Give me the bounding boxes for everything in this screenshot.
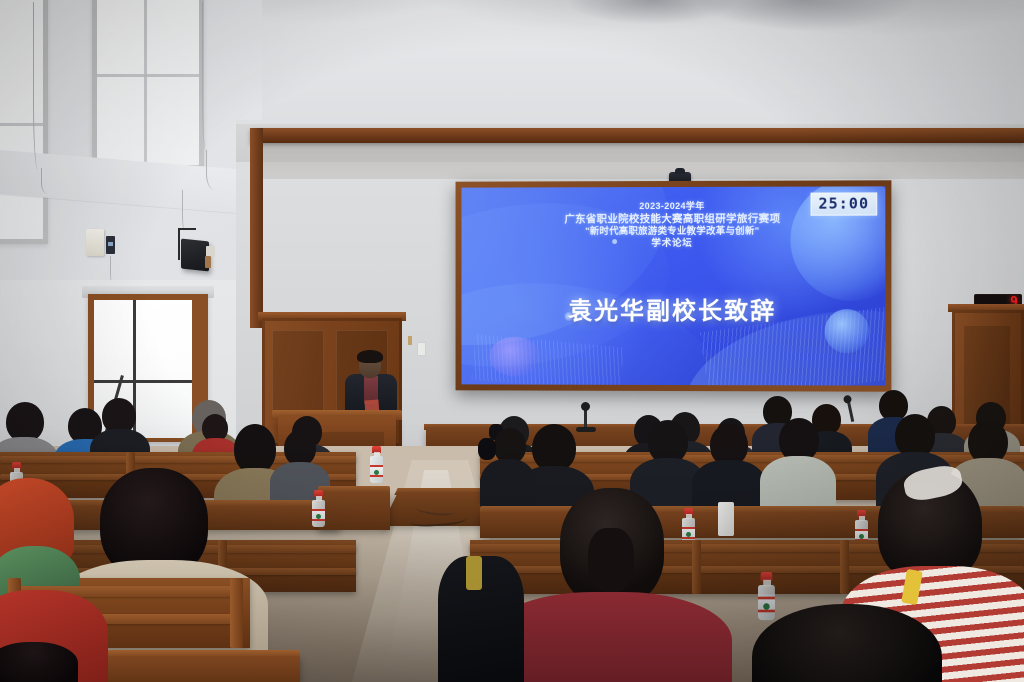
wall-recess [263,143,1024,179]
screen-surface: 2023-2024学年 广东省职业院校技能大赛高职组研学旅行赛项 "新时代高职旅… [461,186,885,385]
bottle-label [370,465,383,477]
slide-main-title: 袁光华副校长致辞 [461,291,885,326]
desk-row [318,492,390,530]
lecture-hall-scene: 2023-2024学年 广东省职业院校技能大赛高职组研学旅行赛项 "新时代高职旅… [0,0,1024,682]
door-hinge [408,336,412,345]
speaker-bracket-arm [178,228,196,230]
window-glare [97,0,199,165]
audience-person [752,604,942,682]
wall-cable [202,2,212,152]
wall-cable [182,190,188,230]
slide-header-line-4: 学术论坛 [461,238,885,251]
window-mullion [94,380,192,383]
window-mullion [97,74,199,77]
ceiling-shadow [700,0,1000,60]
bottle-label [312,509,325,521]
wood-valance-post [250,128,263,328]
lanyard [466,556,482,590]
presenter-at-podium [345,352,397,418]
audience-person [438,556,526,682]
slide-circle-decoration [489,337,540,377]
window-mullion [144,0,147,165]
slide-header-line-3: "新时代高职旅游类专业教学改革与创新" [461,226,885,239]
person-head [284,430,316,466]
bench-post [230,578,243,648]
person-head [234,424,276,474]
door-panel [272,330,324,418]
person-head [532,424,576,472]
presenter-hair [357,350,383,363]
wall-cable [206,150,228,190]
intercom-panel[interactable] [86,229,104,256]
wall-socket-plate [417,342,426,356]
led-presentation-screen[interactable]: 2023-2024学年 广东省职业院校技能大赛高职组研学旅行赛项 "新时代高职旅… [456,180,892,391]
person-head [752,604,942,682]
countdown-timer: 25:00 [810,192,877,215]
high-clerestory-window [92,0,204,170]
person-head [6,402,44,442]
audience-person [768,418,828,510]
audience-person-maroon-sweater [492,488,724,682]
wall-cable [33,2,45,170]
wood-valance-beam [250,128,1024,143]
audience-person [0,590,110,682]
screen-frame: 2023-2024学年 广东省职业院校技能大赛高职组研学旅行赛项 "新时代高职旅… [456,180,892,391]
speaker-mount [205,256,211,268]
headphone [478,438,496,460]
wall-cable [41,168,59,194]
wall-cable [110,256,114,282]
person-head [0,642,78,682]
speaker-bracket [178,228,180,260]
hair-bun [588,528,634,592]
light-switch-plate[interactable] [106,236,115,254]
